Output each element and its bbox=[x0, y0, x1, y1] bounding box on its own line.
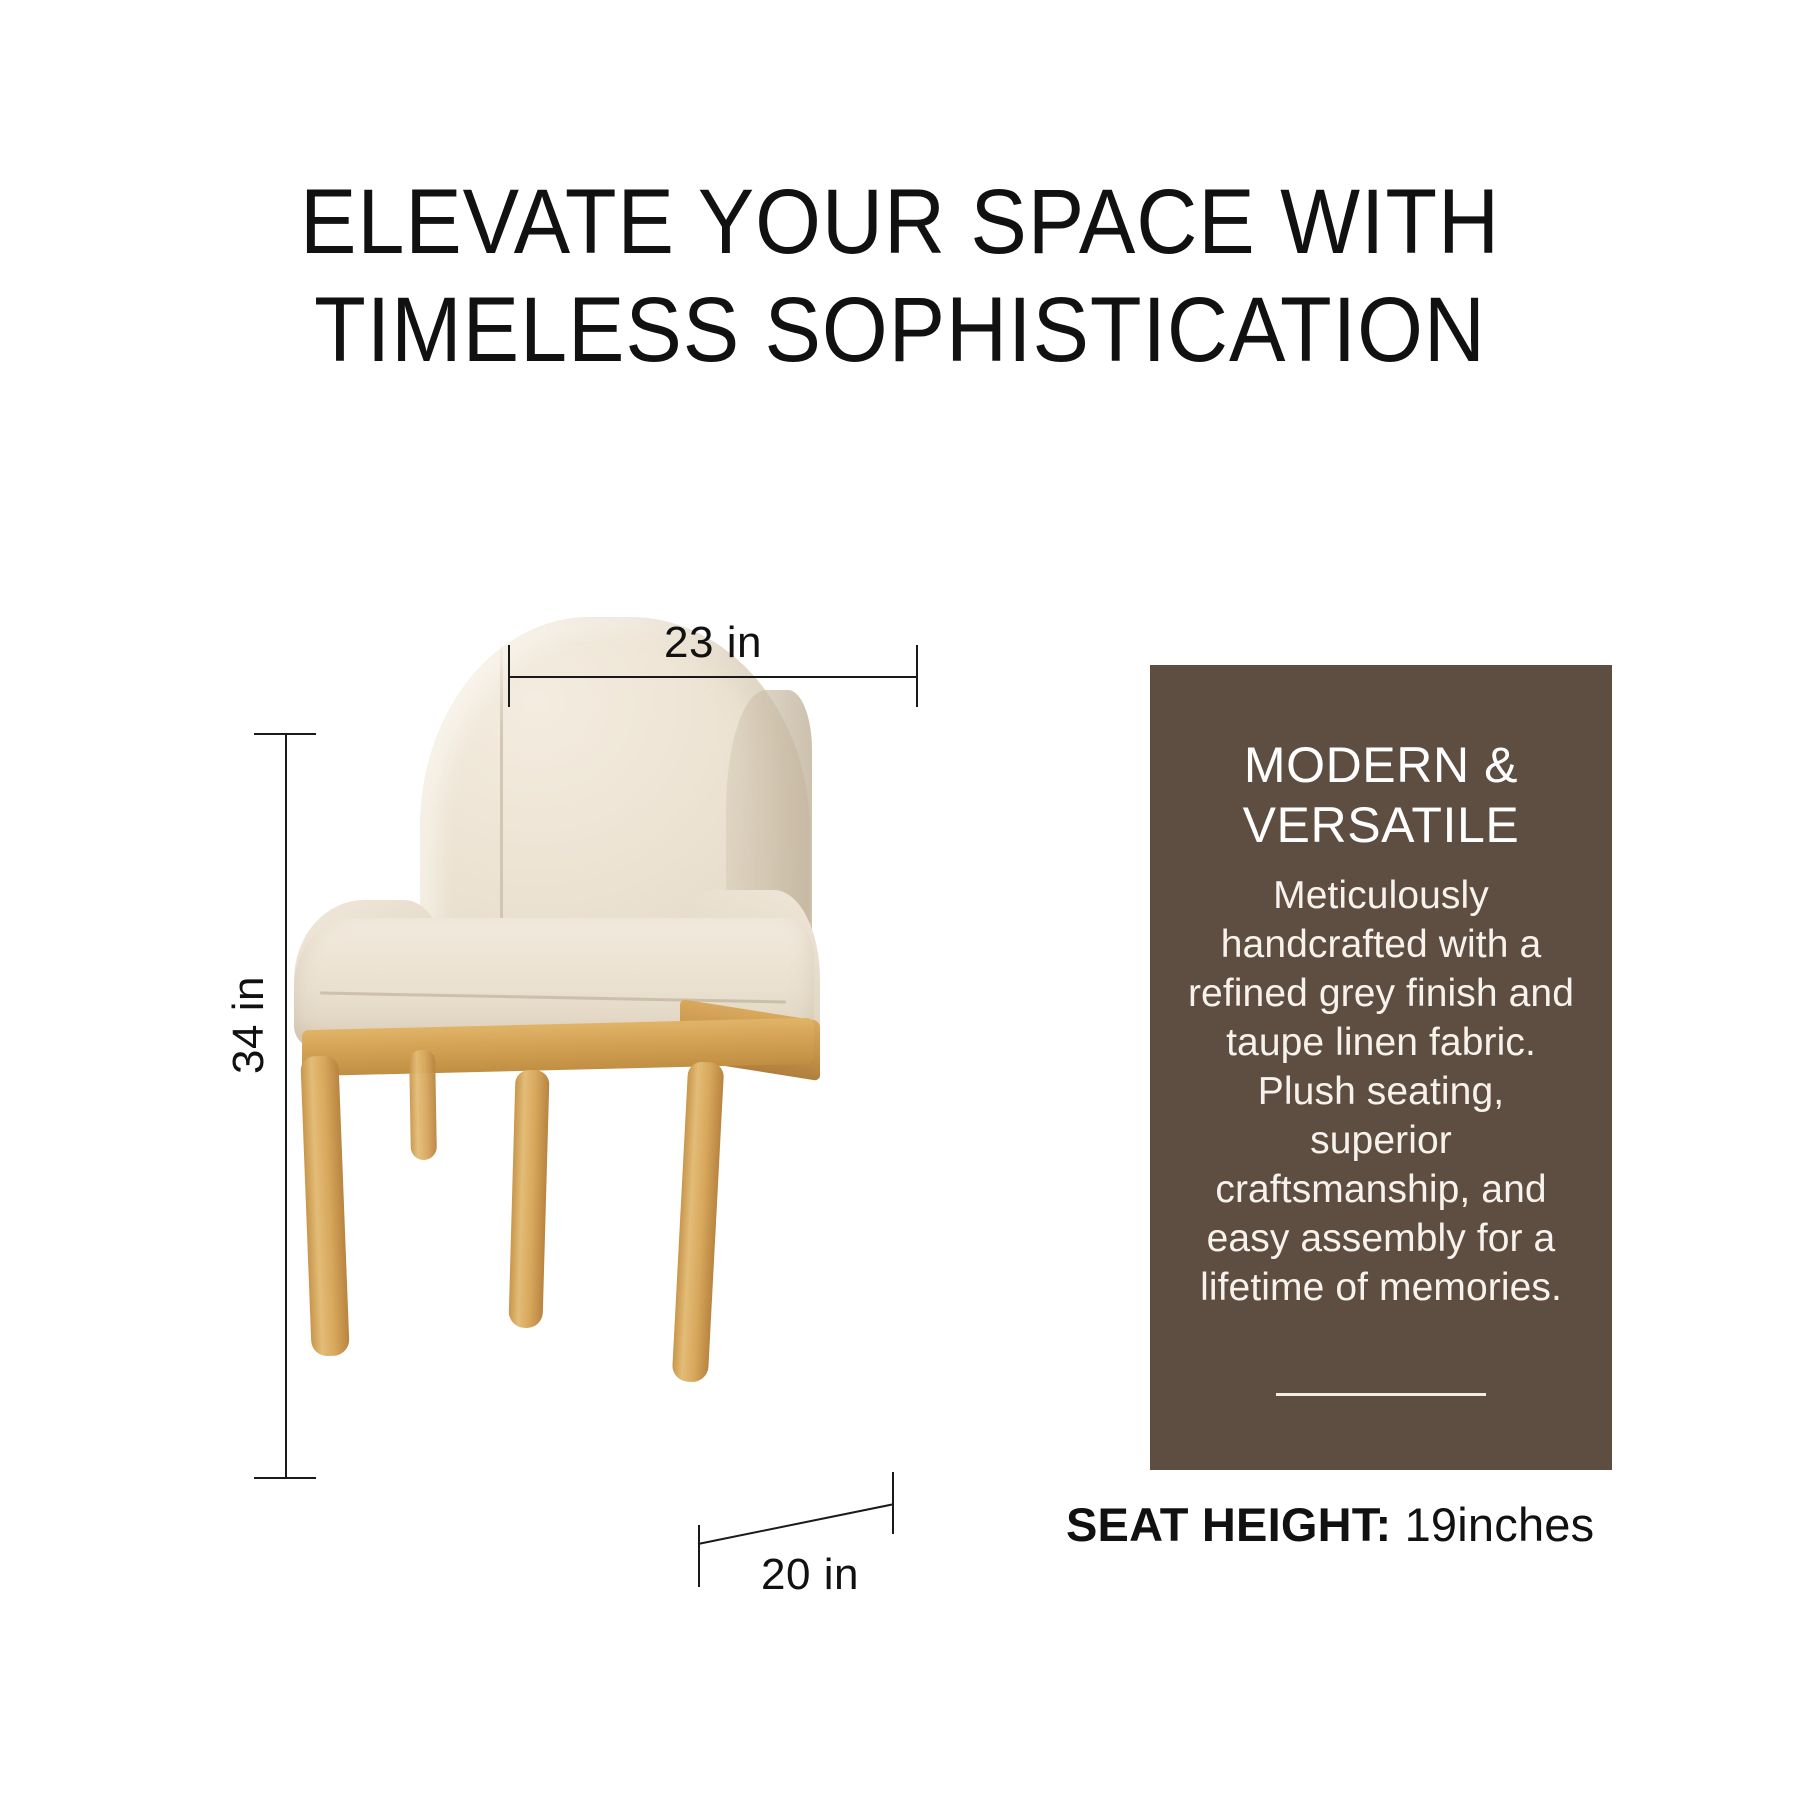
seat-height-callout: SEAT HEIGHT: 19inches bbox=[1066, 1497, 1706, 1552]
dimension-height-label: 34 in bbox=[224, 915, 274, 1135]
dimension-width-line bbox=[508, 676, 918, 678]
dimension-width-cap-right bbox=[916, 645, 918, 707]
chair-leg-front-right bbox=[508, 1070, 549, 1329]
chair-leg-back-right bbox=[672, 1061, 725, 1382]
dimension-depth-label: 20 in bbox=[690, 1550, 930, 1600]
headline-line-1: ELEVATE YOUR SPACE WITH bbox=[72, 168, 1728, 276]
chair-leg-front-left bbox=[300, 1055, 349, 1356]
feature-title-line-2: VERSATILE bbox=[1243, 797, 1520, 853]
chair-leg-back-left bbox=[409, 1050, 437, 1160]
seat-height-value: 19inches bbox=[1405, 1498, 1595, 1551]
feature-panel: MODERN & VERSATILE Meticulously handcraf… bbox=[1150, 665, 1612, 1470]
feature-panel-body: Meticulously handcrafted with a refined … bbox=[1186, 871, 1576, 1312]
dimension-depth-group: 20 in bbox=[690, 1480, 930, 1610]
page-title: ELEVATE YOUR SPACE WITH TIMELESS SOPHIST… bbox=[72, 168, 1728, 384]
dimension-height-cap-bottom bbox=[254, 1477, 316, 1479]
feature-title-line-1: MODERN & bbox=[1244, 737, 1518, 793]
headline-line-2: TIMELESS SOPHISTICATION bbox=[72, 276, 1728, 384]
dimension-height-line bbox=[285, 733, 287, 1478]
dimension-width-label: 23 in bbox=[508, 618, 918, 668]
seat-height-label: SEAT HEIGHT: bbox=[1066, 1498, 1391, 1551]
feature-panel-divider bbox=[1276, 1393, 1486, 1396]
dimension-height-cap-top bbox=[254, 733, 316, 735]
dimension-depth-line bbox=[698, 1504, 892, 1545]
dimension-width-cap-left bbox=[508, 645, 510, 707]
infographic-canvas: ELEVATE YOUR SPACE WITH TIMELESS SOPHIST… bbox=[0, 0, 1800, 1800]
dimension-depth-cap-right bbox=[892, 1472, 894, 1534]
product-image-chair bbox=[250, 600, 930, 1470]
feature-panel-title: MODERN & VERSATILE bbox=[1186, 735, 1576, 855]
